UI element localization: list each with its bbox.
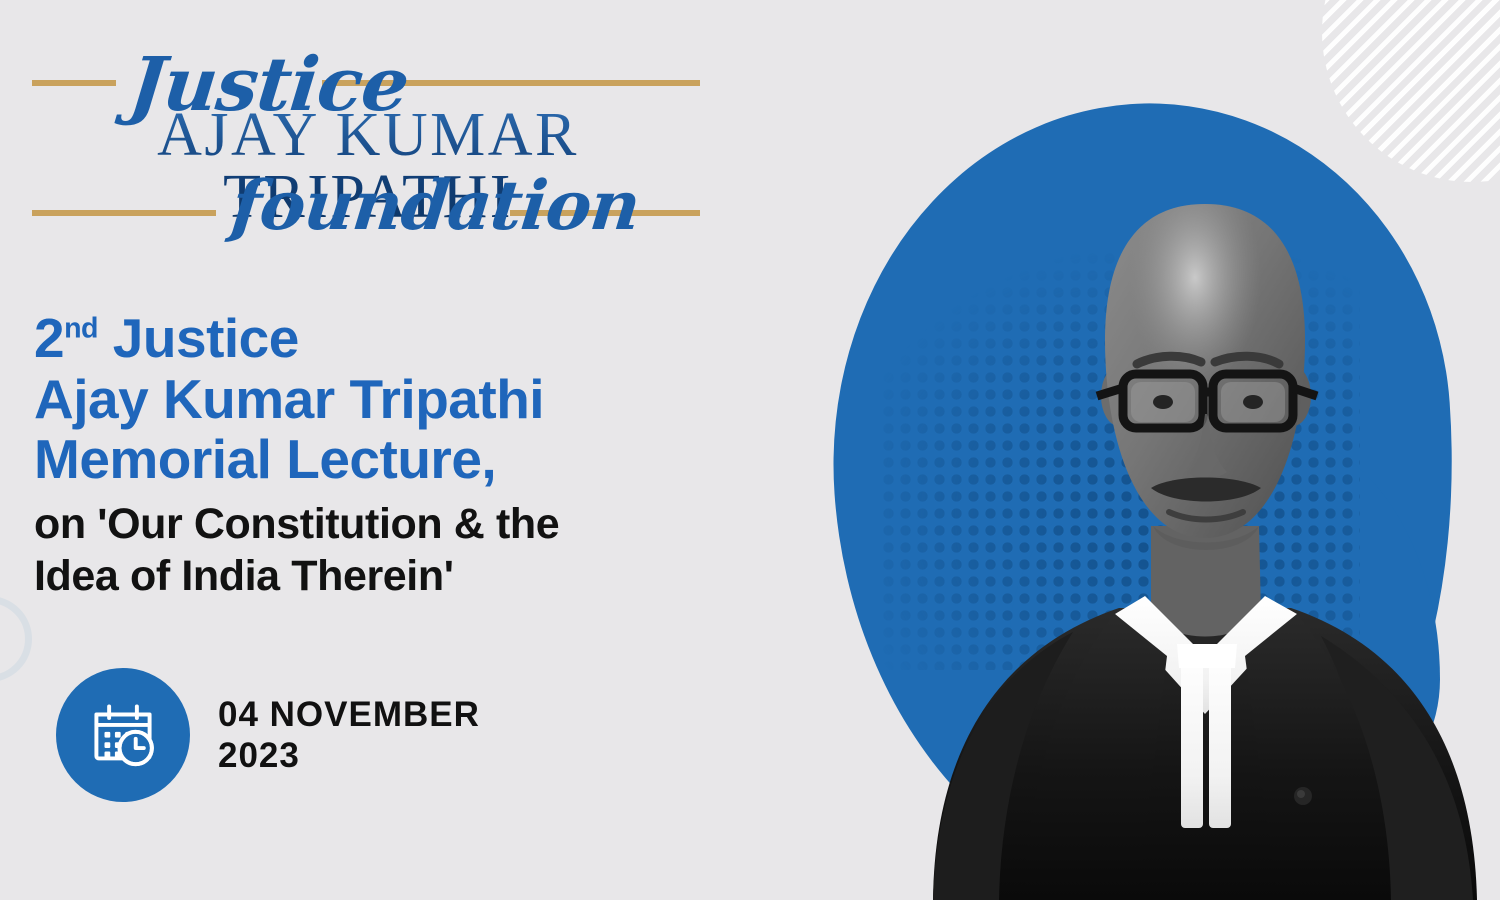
portrait-photo bbox=[905, 96, 1500, 900]
event-date-year: 2023 bbox=[218, 735, 480, 776]
title-line2: Ajay Kumar Tripathi bbox=[34, 368, 544, 430]
title-line3: Memorial Lecture, bbox=[34, 428, 496, 490]
event-title-block: 2nd Justice Ajay Kumar Tripathi Memorial… bbox=[34, 308, 734, 602]
logo-script-foundation: foundation bbox=[228, 166, 644, 246]
title-line1-rest: Justice bbox=[98, 307, 299, 369]
left-edge-ring-decoration bbox=[0, 596, 32, 682]
calendar-clock-icon bbox=[86, 696, 160, 775]
logo-gold-rule-top-left bbox=[32, 80, 116, 86]
event-date-block: 04 NOVEMBER 2023 bbox=[56, 668, 480, 802]
event-date-text: 04 NOVEMBER 2023 bbox=[218, 694, 480, 777]
subtitle-line2: Idea of India Therein' bbox=[34, 552, 454, 600]
date-badge bbox=[56, 668, 190, 802]
ordinal-suffix: nd bbox=[64, 313, 98, 345]
foundation-logo: Justice AJAY KUMAR TRIPATHI foundation bbox=[32, 48, 704, 240]
event-poster: Justice AJAY KUMAR TRIPATHI foundation 2… bbox=[0, 0, 1500, 900]
subtitle-line1: on 'Our Constitution & the bbox=[34, 500, 559, 548]
event-date-day-month: 04 NOVEMBER bbox=[218, 694, 480, 735]
event-title: 2nd Justice Ajay Kumar Tripathi Memorial… bbox=[34, 308, 734, 490]
ordinal-number: 2 bbox=[34, 307, 64, 369]
event-subtitle: on 'Our Constitution & the Idea of India… bbox=[34, 498, 734, 603]
